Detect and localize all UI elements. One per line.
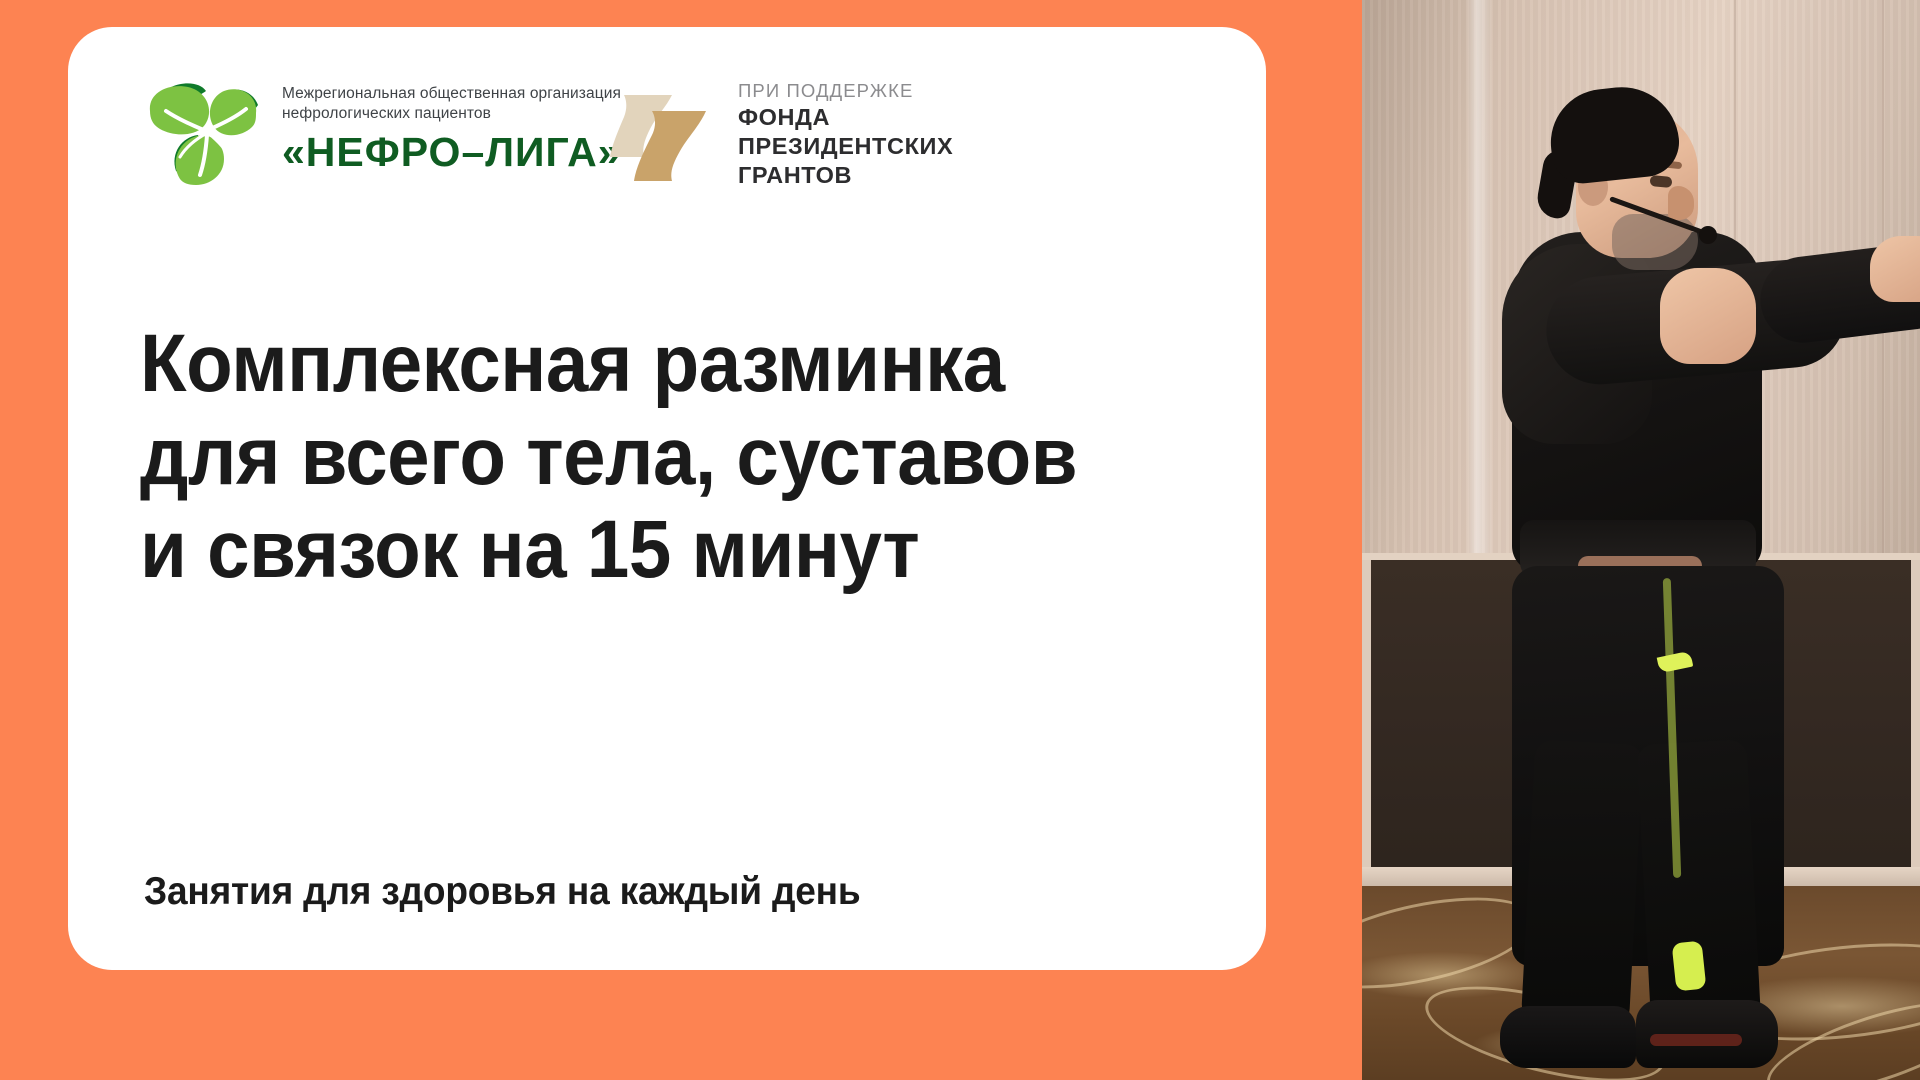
presidential-grants-fund-logo: ПРИ ПОДДЕРЖКЕ ФОНДА ПРЕЗИДЕНТСКИХ ГРАНТО… — [608, 79, 953, 190]
headline-line-3: и связок на 15 минут — [140, 503, 1126, 596]
instructor-photo — [1362, 0, 1920, 1080]
logo-row: Межрегиональная общественная организация… — [68, 27, 1266, 217]
fund-line-grantov: ГРАНТОВ — [738, 161, 953, 190]
figure-shoe-left — [1500, 1006, 1636, 1068]
presidential-grants-fund-text: ПРИ ПОДДЕРЖКЕ ФОНДА ПРЕЗИДЕНТСКИХ ГРАНТО… — [738, 79, 953, 190]
page-title: Комплексная разминка для всего тела, сус… — [140, 317, 1200, 596]
nefro-liga-logo: Межрегиональная общественная организация… — [140, 75, 622, 185]
fund-line-support: ПРИ ПОДДЕРЖКЕ — [738, 79, 953, 103]
figure-leg-left — [1520, 739, 1643, 1034]
headline-line-1: Комплексная разминка — [140, 317, 1126, 410]
clover-leaf-icon — [140, 75, 264, 185]
headline-line-2: для всего тела, суставов — [140, 410, 1126, 503]
presidential-grants-ribbon-icon — [608, 83, 716, 187]
instructor-figure — [1362, 0, 1920, 1080]
nefro-liga-name: «НЕФРО–ЛИГА» — [282, 128, 622, 176]
figure-eye — [1650, 175, 1673, 188]
pants-cuff-accent — [1672, 941, 1707, 992]
video-cover-slide: Межрегиональная общественная организация… — [0, 0, 1920, 1080]
figure-nose — [1668, 186, 1694, 220]
headset-mic-tip — [1699, 226, 1717, 244]
figure-hand-extended — [1870, 236, 1920, 302]
fund-line-fonda: ФОНДА — [738, 103, 953, 132]
nefro-subtitle-line-2: нефрологических пациентов — [282, 104, 622, 124]
bandana — [1546, 82, 1683, 187]
nefro-subtitle-line-1: Межрегиональная общественная организация — [282, 84, 622, 104]
nefro-liga-text: Межрегиональная общественная организация… — [282, 84, 622, 176]
shoe-sole-accent — [1650, 1034, 1742, 1046]
content-card: Межрегиональная общественная организация… — [68, 27, 1266, 970]
fund-line-prezidentskih: ПРЕЗИДЕНТСКИХ — [738, 132, 953, 161]
figure-hand-fist — [1660, 268, 1756, 364]
figure-leg-right — [1636, 739, 1761, 1034]
page-subtitle: Занятия для здоровья на каждый день — [144, 867, 860, 917]
